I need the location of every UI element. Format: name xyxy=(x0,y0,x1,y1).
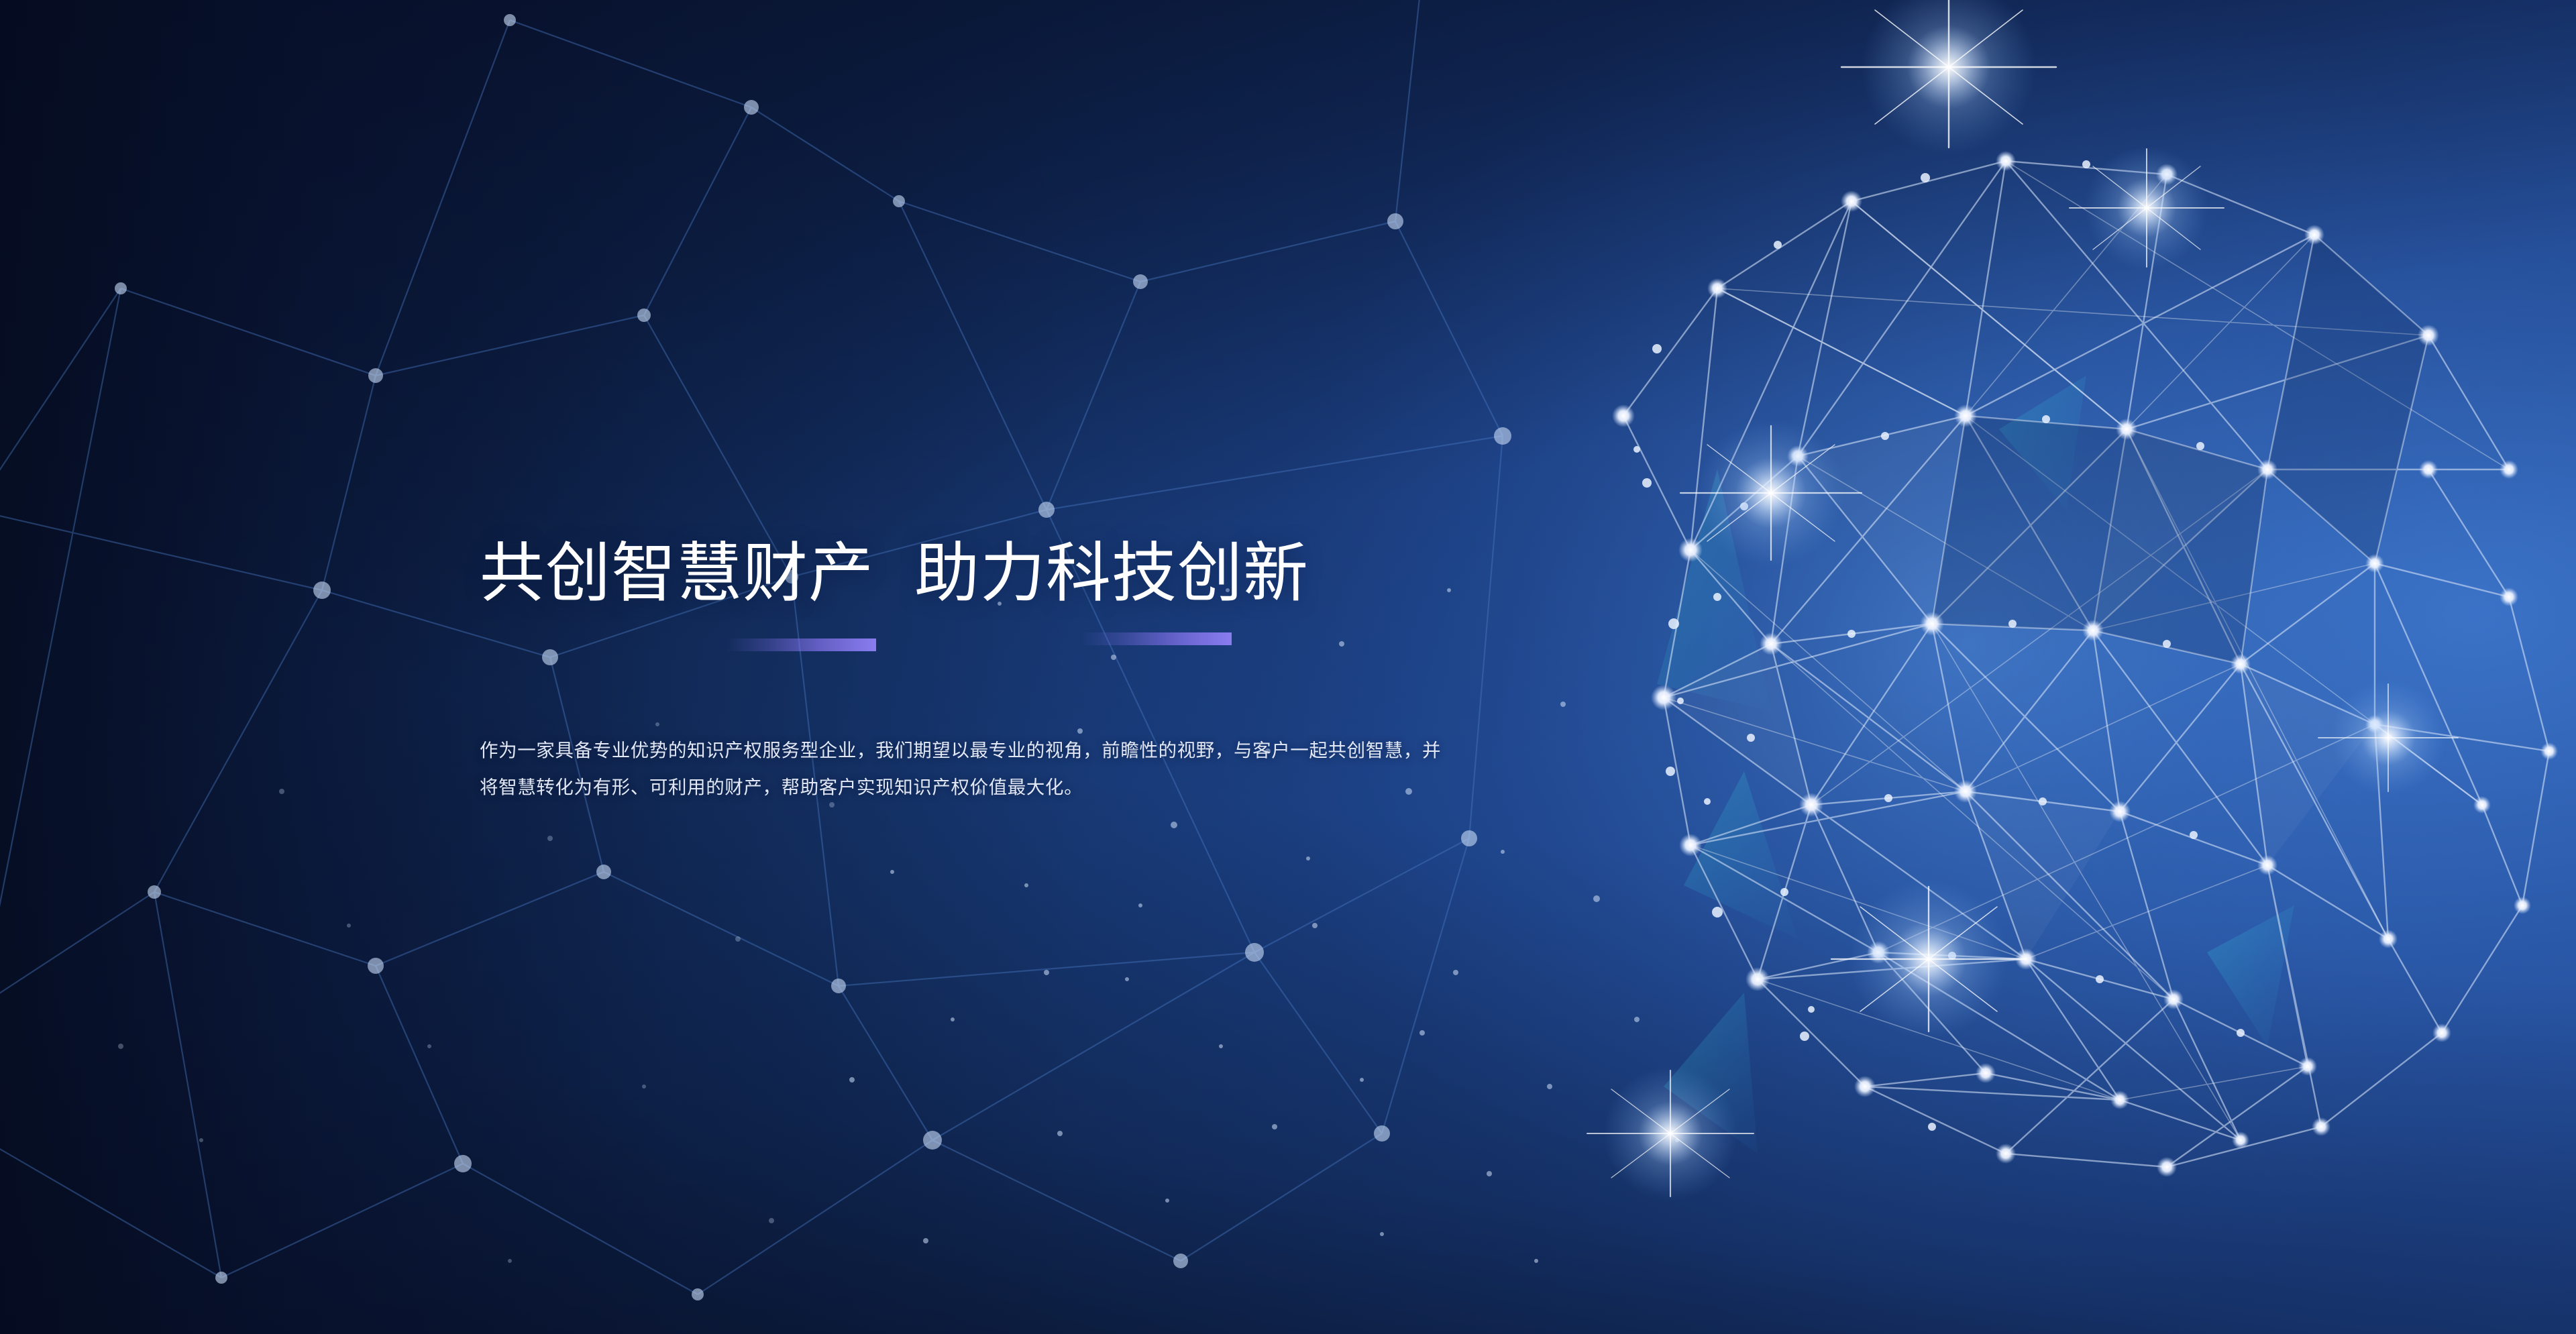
headline-part-two: 助力科技创新 xyxy=(914,537,1309,610)
hero-banner: 共创智慧财产助力科技创新 作为一家具备专业优势的知识产权服务型企业，我们期望以最… xyxy=(0,0,2576,1334)
accent-bar-left xyxy=(726,638,876,651)
hero-text-block: 共创智慧财产助力科技创新 作为一家具备专业优势的知识产权服务型企业，我们期望以最… xyxy=(480,541,1459,824)
headline-part-one: 共创智慧财产 xyxy=(480,537,874,610)
hero-description: 作为一家具备专业优势的知识产权服务型企业，我们期望以最专业的视角，前瞻性的视野，… xyxy=(480,732,1442,805)
page-title: 共创智慧财产助力科技创新 xyxy=(480,541,1459,606)
accent-bar-right xyxy=(1081,632,1232,645)
